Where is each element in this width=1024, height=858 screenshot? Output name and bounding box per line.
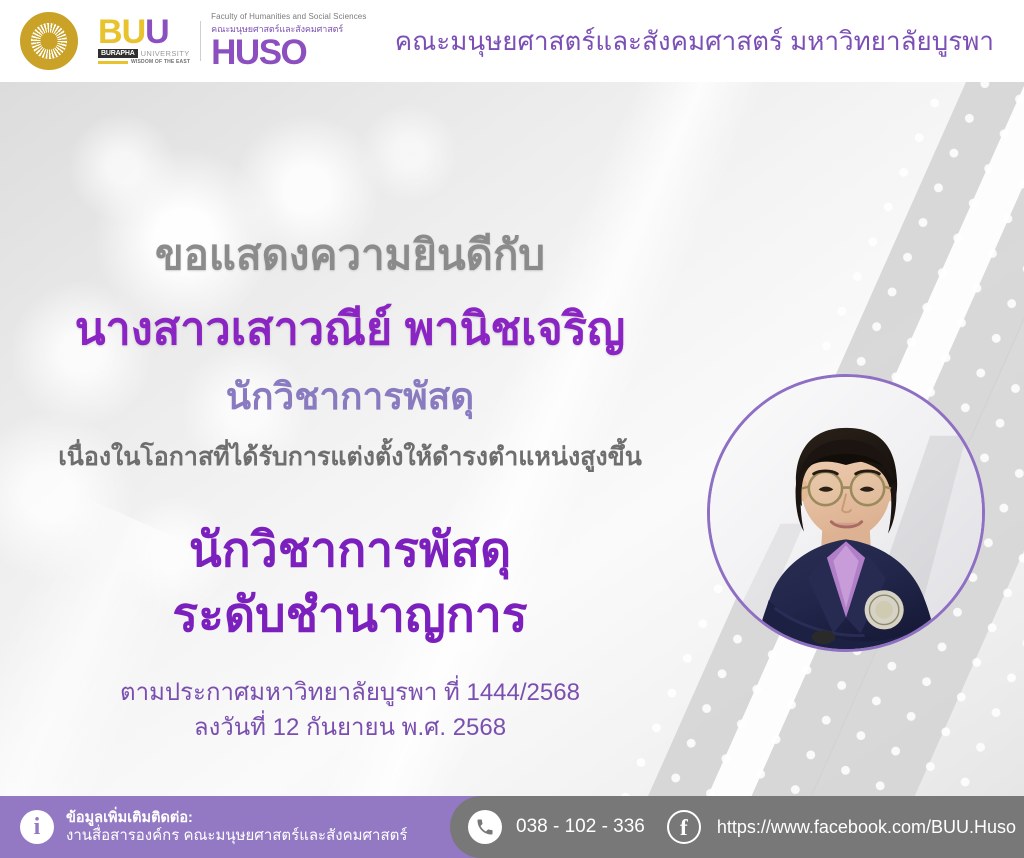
buu-wisdom-text: WISDOM OF THE EAST — [131, 59, 190, 65]
header-bar: B U U BURAPHA UNIVERSITY WISDOM OF THE E… — [0, 0, 1024, 82]
portrait-photo — [710, 377, 982, 649]
footer-bar: i ข้อมูลเพิ่มเติมติดต่อ: งานสื่อสารองค์ก… — [0, 796, 1024, 858]
portrait-circle-frame — [707, 374, 985, 652]
congratulation-poster: B U U BURAPHA UNIVERSITY WISDOM OF THE E… — [0, 0, 1024, 858]
footer-contact-block: ข้อมูลเพิ่มเติมติดต่อ: งานสื่อสารองค์กร … — [66, 809, 407, 846]
facebook-url[interactable]: https://www.facebook.com/BUU.Huso — [717, 817, 1016, 838]
footer-contact-office: งานสื่อสารองค์กร คณะมนุษยศาสตร์และสังคมศ… — [66, 827, 407, 846]
buu-logotype: B U U BURAPHA UNIVERSITY WISDOM OF THE E… — [98, 17, 190, 66]
huso-acronym: HUSO — [211, 35, 366, 70]
buu-letters: B U U — [98, 17, 169, 48]
buu-subtitle: BURAPHA UNIVERSITY — [98, 49, 190, 58]
huso-logotype: Faculty of Humanities and Social Science… — [211, 12, 366, 70]
buu-university-word: UNIVERSITY — [141, 49, 190, 58]
buu-wisdom-line: WISDOM OF THE EAST — [98, 59, 190, 65]
facebook-icon[interactable]: f — [667, 810, 701, 844]
buu-university-seal-icon — [20, 12, 78, 70]
buu-letter-u1: U — [122, 17, 146, 48]
info-icon: i — [20, 810, 54, 844]
bottom-left-light-wedge — [0, 490, 207, 796]
buu-letter-u2: U — [145, 17, 169, 48]
header-faculty-title: คณะมนุษยศาสตร์และสังคมศาสตร์ มหาวิทยาลัย… — [395, 21, 994, 62]
huso-english-name: Faculty of Humanities and Social Science… — [211, 12, 366, 21]
portrait-container — [707, 374, 985, 652]
footer-contact-label: ข้อมูลเพิ่มเติมติดต่อ: — [66, 809, 407, 827]
buu-huso-logo: B U U BURAPHA UNIVERSITY WISDOM OF THE E… — [98, 12, 366, 70]
logo-divider — [200, 21, 201, 61]
phone-icon — [468, 810, 502, 844]
gold-bar-icon — [98, 61, 128, 64]
buu-letter-b: B — [98, 17, 122, 48]
phone-number[interactable]: 038 - 102 - 336 — [516, 816, 645, 838]
buu-burapha-tag: BURAPHA — [98, 49, 138, 58]
contact-pill: 038 - 102 - 336 f https://www.facebook.c… — [450, 796, 1024, 858]
